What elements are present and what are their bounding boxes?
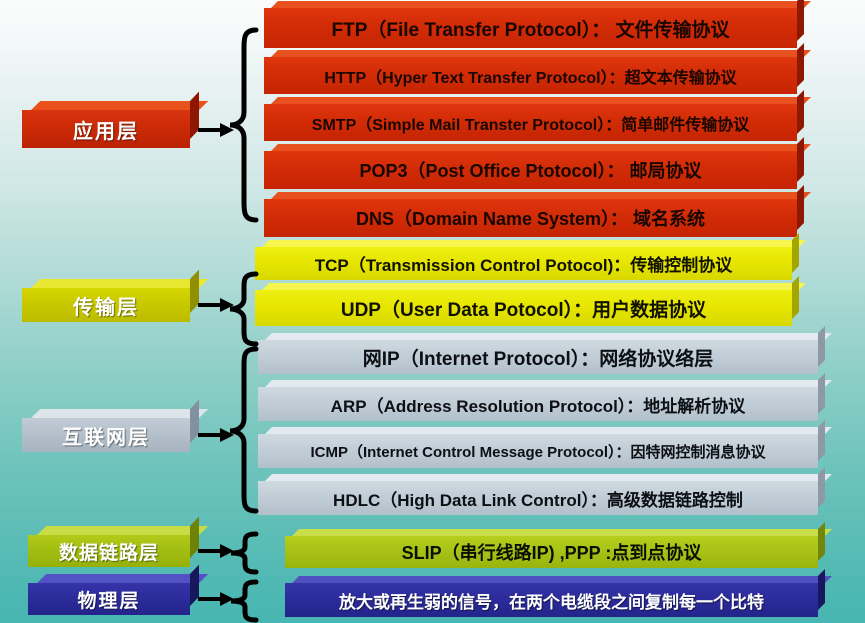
protocol-label: 网IP（Internet Protocol）：网络协议络层: [258, 344, 818, 371]
protocol-label: TCP（Transmission Control Potocol)：传输控制协议: [255, 251, 792, 276]
box-top-face: [265, 474, 832, 481]
box-top-face: [271, 97, 811, 104]
box-side-face: [797, 185, 804, 230]
layer-box-application[interactable]: 应用层: [22, 110, 190, 148]
box-top-face: [31, 409, 208, 418]
protocol-row-physical[interactable]: 放大或再生弱的信号，在两个电缆段之间复制每一个比特: [285, 583, 818, 617]
protocol-label: FTP（File Transfer Protocol）： 文件传输协议: [264, 15, 797, 42]
protocol-label: HTTP（Hyper Text Transfer Protocol）：超文本传输…: [264, 64, 797, 88]
protocol-label: 放大或再生弱的信号，在两个电缆段之间复制每一个比特: [285, 588, 818, 613]
protocol-row-tcp[interactable]: TCP（Transmission Control Potocol)：传输控制协议: [255, 247, 792, 280]
protocol-row-slip-ppp[interactable]: SLIP（串行线路IP) ,PPP :点到点协议: [285, 536, 818, 568]
brace-datalink: [226, 531, 260, 575]
protocol-label: POP3（Post Office Ptotocol）： 邮局协议: [264, 157, 797, 183]
box-side-face: [818, 373, 825, 414]
box-side-face: [818, 569, 825, 610]
box-side-face: [797, 43, 804, 87]
brace-application: [226, 26, 260, 224]
protocol-label: DNS（Domain Name System）： 域名系统: [264, 205, 797, 231]
box-side-face: [818, 420, 825, 461]
box-side-face: [797, 90, 804, 134]
brace-physical: [226, 579, 260, 623]
protocol-stack-diagram: 应用层 传输层 互联网层 数据链路层 物理层: [0, 0, 865, 623]
box-top-face: [292, 576, 832, 583]
protocol-label: UDP（User Data Potocol）：用户数据协议: [255, 295, 792, 322]
protocol-row-smtp[interactable]: SMTP（Simple Mail Transter Protocol）：简单邮件…: [264, 104, 797, 141]
box-side-face: [792, 233, 799, 273]
box-top-face: [265, 380, 832, 387]
box-top-face: [31, 101, 208, 110]
layer-box-physical[interactable]: 物理层: [28, 583, 190, 615]
protocol-row-dns[interactable]: DNS（Domain Name System）： 域名系统: [264, 199, 797, 237]
layer-label-application: 应用层: [73, 115, 139, 144]
box-top-face: [265, 427, 832, 434]
box-top-face: [265, 333, 832, 340]
box-top-face: [262, 240, 806, 247]
protocol-row-http[interactable]: HTTP（Hyper Text Transfer Protocol）：超文本传输…: [264, 57, 797, 94]
brace-internet: [226, 345, 260, 515]
layer-label-datalink: 数据链路层: [59, 538, 159, 565]
box-side-face: [792, 276, 799, 319]
box-top-face: [271, 192, 811, 199]
protocol-label: SMTP（Simple Mail Transter Protocol）：简单邮件…: [264, 111, 797, 135]
box-top-face: [271, 1, 811, 8]
layer-label-physical: 物理层: [77, 586, 140, 613]
layer-label-internet: 互联网层: [62, 421, 150, 450]
layer-label-transport: 传输层: [73, 291, 139, 320]
protocol-row-pop3[interactable]: POP3（Post Office Ptotocol）： 邮局协议: [264, 151, 797, 189]
protocol-label: ARP（Address Resolution Protocol）：地址解析协议: [258, 392, 818, 417]
protocol-row-udp[interactable]: UDP（User Data Potocol）：用户数据协议: [255, 290, 792, 326]
box-side-face: [818, 467, 825, 508]
protocol-label: HDLC（High Data Link Control）：高级数据链路控制: [258, 486, 818, 511]
protocol-row-hdlc[interactable]: HDLC（High Data Link Control）：高级数据链路控制: [258, 481, 818, 515]
layer-box-datalink[interactable]: 数据链路层: [28, 535, 190, 567]
layer-box-internet[interactable]: 互联网层: [22, 418, 190, 452]
box-top-face: [292, 529, 832, 536]
box-side-face: [818, 326, 825, 367]
box-side-face: [797, 137, 804, 182]
box-side-face: [797, 0, 804, 41]
protocol-row-arp[interactable]: ARP（Address Resolution Protocol）：地址解析协议: [258, 387, 818, 421]
brace-transport: [226, 271, 260, 347]
box-top-face: [262, 283, 806, 290]
protocol-label: SLIP（串行线路IP) ,PPP :点到点协议: [285, 539, 818, 565]
protocol-row-icmp[interactable]: ICMP（Internet Control Message Protocol）：…: [258, 434, 818, 468]
box-top-face: [37, 574, 208, 583]
box-top-face: [31, 279, 208, 288]
protocol-label: ICMP（Internet Control Message Protocol）：…: [258, 441, 818, 462]
box-top-face: [37, 526, 208, 535]
box-side-face: [818, 522, 825, 561]
box-top-face: [271, 144, 811, 151]
protocol-row-ip[interactable]: 网IP（Internet Protocol）：网络协议络层: [258, 340, 818, 374]
protocol-row-ftp[interactable]: FTP（File Transfer Protocol）： 文件传输协议: [264, 8, 797, 48]
layer-box-transport[interactable]: 传输层: [22, 288, 190, 322]
box-top-face: [271, 50, 811, 57]
